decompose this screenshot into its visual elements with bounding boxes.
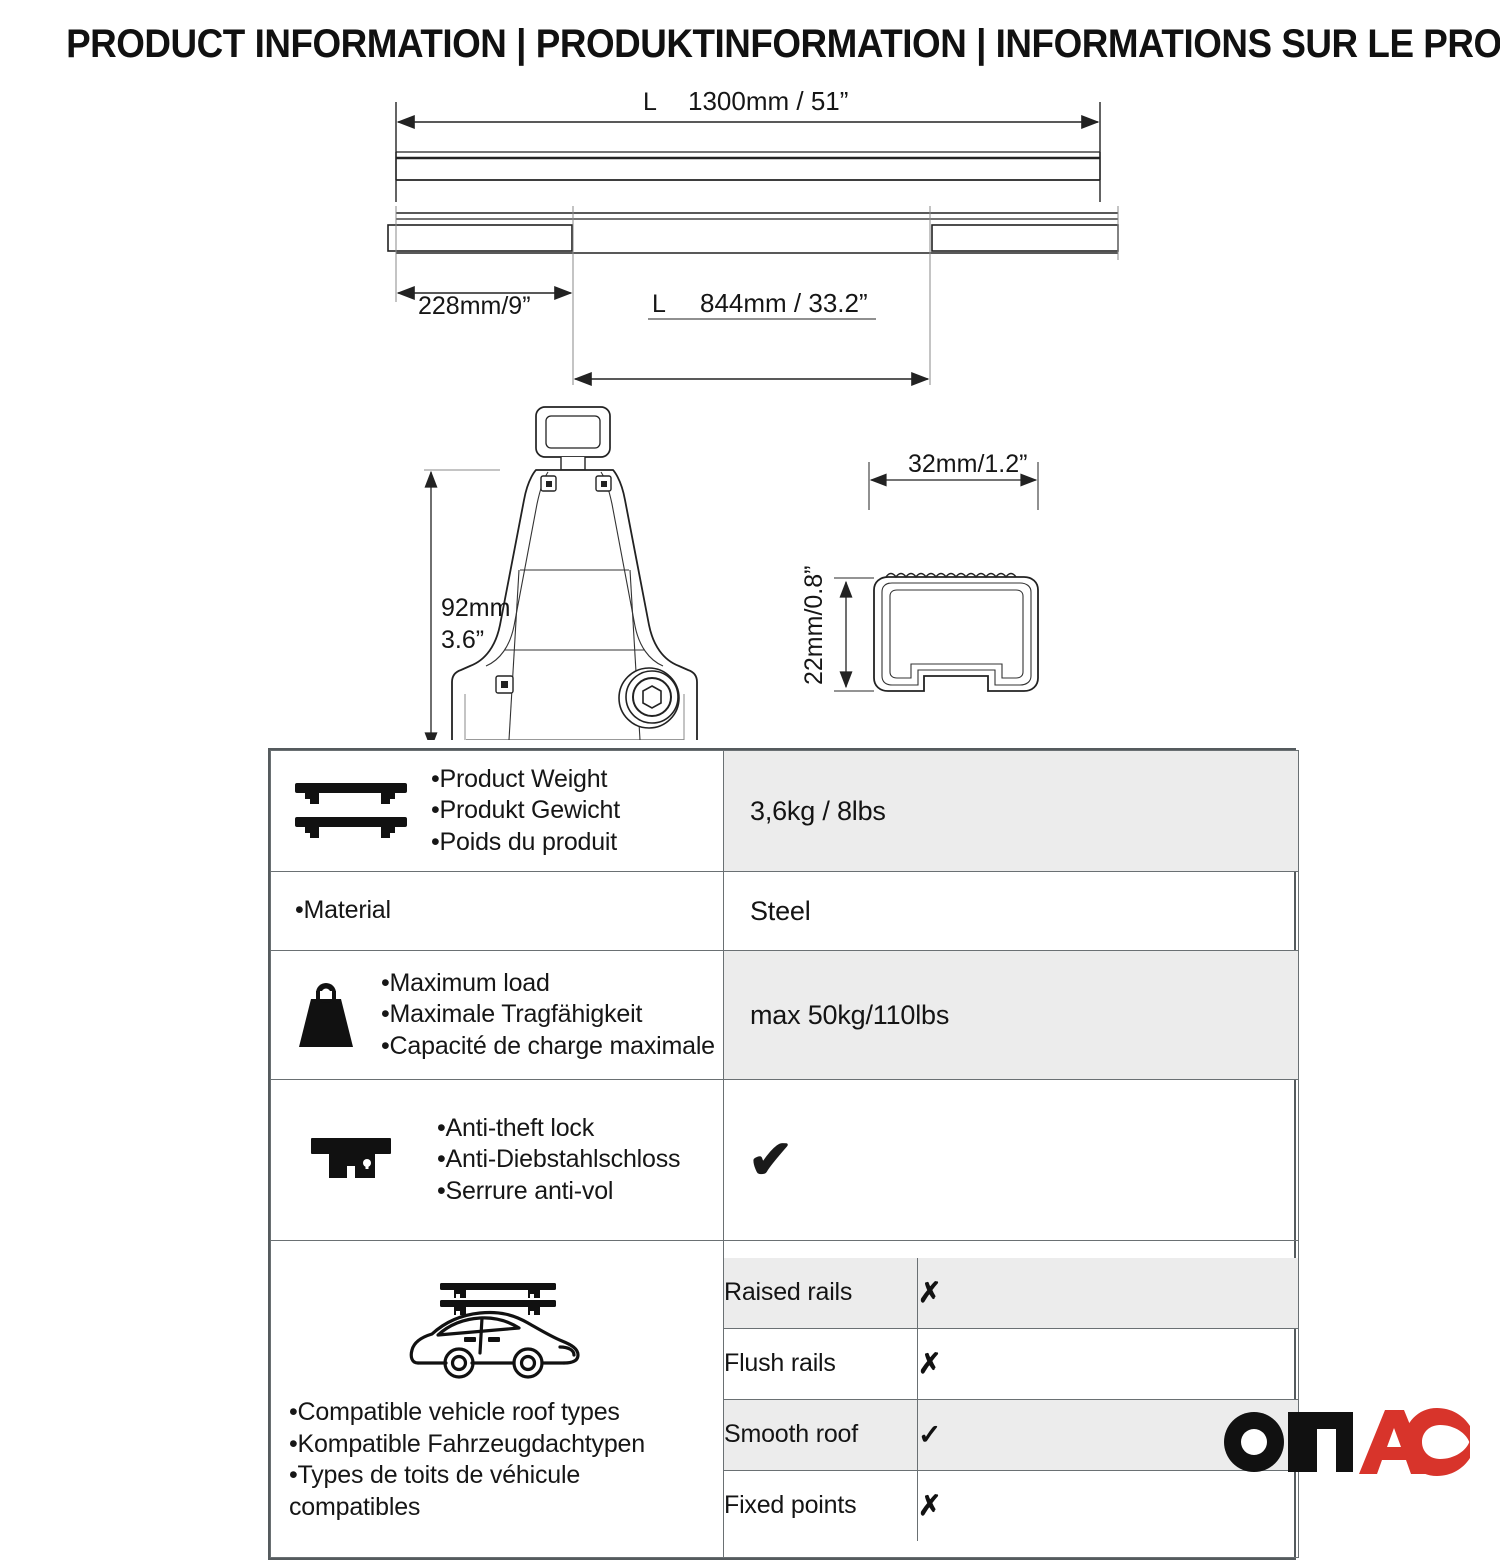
page-title: PRODUCT INFORMATION | PRODUKTINFORMATION… [66,22,1500,67]
roof-label-de: •Kompatible Fahrzeugdachtypen [289,1429,645,1461]
spec-value-cell: 3,6kg / 8lbs [724,751,1299,872]
spec-value-cell: max 50kg/110lbs [724,951,1299,1080]
spec-label-cell: •Product Weight •Produkt Gewicht •Poids … [271,751,724,872]
label-profile-height: 22mm/0.8” [800,566,828,685]
spec-value-cell: Steel [724,872,1299,951]
material-value: Steel [724,896,1298,927]
spec-label-fr: •Capacité de charge maximale [381,1031,721,1063]
roof-type-name-raised-rails: Raised rails [724,1258,918,1329]
omac-logo-mark [1218,1404,1470,1478]
roof-type-name-smooth-roof: Smooth roof [724,1399,918,1470]
page-header: PRODUCT INFORMATION | PRODUKTINFORMATION… [0,22,1500,67]
crossbars-icon [271,775,431,847]
label-profile-width: 32mm/1.2” [908,450,1027,478]
label-foot-offset: 228mm/9” [418,292,531,320]
omac-logo [1218,1404,1470,1482]
weight-icon [271,977,381,1053]
spec-label-cell: •Maximum load •Maximale Tragfähigkeit •C… [271,951,724,1080]
lock-icon [271,1130,431,1190]
spec-label-cell: •Material [271,872,724,951]
roof-types-labels: •Compatible vehicle roof types •Kompatib… [271,1397,645,1523]
product-weight-value: 3,6kg / 8lbs [724,796,1298,827]
roof-type-mark-flush-rails: ✗ [918,1328,1299,1399]
label-foot-height-1: 92mm [441,594,510,622]
spec-label-fr: •Poids du produit [431,827,721,859]
spec-label-en: •Anti-theft lock [437,1113,721,1145]
roof-label-en: •Compatible vehicle roof types [289,1397,645,1429]
table-row: •Material Steel [271,872,1299,951]
spec-label-de: •Anti-Diebstahlschloss [437,1144,721,1176]
table-row: •Maximum load •Maximale Tragfähigkeit •C… [271,951,1299,1080]
roof-type-row: Smooth roof ✓ [724,1399,1298,1470]
spec-labels: •Maximum load •Maximale Tragfähigkeit •C… [381,968,723,1063]
spec-labels: •Anti-theft lock •Anti-Diebstahlschloss … [431,1113,723,1208]
car-with-rack-icon [271,1275,723,1387]
roof-type-row: Flush rails ✗ [724,1328,1298,1399]
table-row: •Anti-theft lock •Anti-Diebstahlschloss … [271,1080,1299,1241]
spec-label-en: •Product Weight [431,764,721,796]
max-load-value: max 50kg/110lbs [724,1000,1298,1031]
spec-label-de: •Maximale Tragfähigkeit [381,999,721,1031]
roof-type-row: Fixed points ✗ [724,1470,1298,1541]
roof-types-value-cell: Raised rails ✗ Flush rails ✗ Smooth roof… [724,1241,1299,1558]
spec-label-en: •Material [295,895,721,927]
roof-type-name-fixed-points: Fixed points [724,1470,918,1541]
spec-value-cell: ✔ [724,1080,1299,1241]
roof-label-fr: •Types de toits de véhicule [289,1460,645,1492]
roof-type-name-flush-rails: Flush rails [724,1328,918,1399]
spec-label-en: •Maximum load [381,968,721,1000]
label-foot-height-2: 3.6” [441,626,484,654]
roof-type-row: Raised rails ✗ [724,1258,1298,1329]
label-L-prefix-top: L [643,88,657,116]
spec-label-cell: •Anti-theft lock •Anti-Diebstahlschloss … [271,1080,724,1241]
table-row-roof-types: •Compatible vehicle roof types •Kompatib… [271,1241,1299,1558]
roof-type-mark-raised-rails: ✗ [918,1258,1299,1329]
roof-types-label-cell: •Compatible vehicle roof types •Kompatib… [271,1241,724,1558]
technical-drawing: L 1300mm / 51” 228mm/9” L 844mm / 33.2” [0,80,1500,740]
anti-theft-checkmark: ✔ [724,1133,1298,1187]
label-spread: 844mm / 33.2” [700,288,868,318]
spec-label-de: •Produkt Gewicht [431,795,721,827]
label-bar-length: 1300mm / 51” [688,86,848,116]
spec-labels: •Material [271,895,723,927]
spec-table: •Product Weight •Produkt Gewicht •Poids … [268,748,1296,1560]
label-L-prefix-spread: L [652,290,666,318]
spec-labels: •Product Weight •Produkt Gewicht •Poids … [431,764,723,859]
spec-label-fr: •Serrure anti-vol [437,1176,721,1208]
table-row: •Product Weight •Produkt Gewicht •Poids … [271,751,1299,872]
roof-label-fr-cont: compatibles [289,1492,645,1524]
